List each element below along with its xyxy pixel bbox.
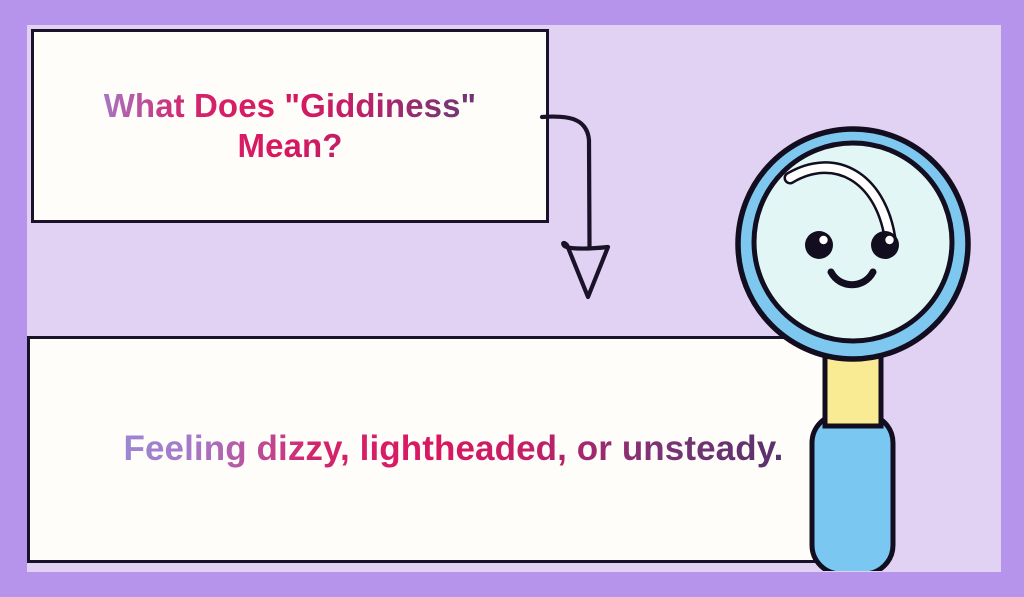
left-eye-icon: [805, 231, 833, 259]
infographic-canvas: What Does "Giddiness" Mean? Feeling dizz…: [0, 0, 1024, 597]
magnifier-handle-grip: [812, 414, 893, 571]
answer-text: Feeling dizzy, lightheaded, or unsteady.: [109, 428, 797, 471]
question-card: What Does "Giddiness" Mean?: [31, 29, 549, 223]
smiling-magnifying-glass-icon: [722, 126, 987, 571]
left-eye-highlight: [819, 236, 827, 244]
right-eye-highlight: [885, 236, 893, 244]
question-text: What Does "Giddiness" Mean?: [34, 86, 546, 167]
right-eye-icon: [871, 231, 899, 259]
